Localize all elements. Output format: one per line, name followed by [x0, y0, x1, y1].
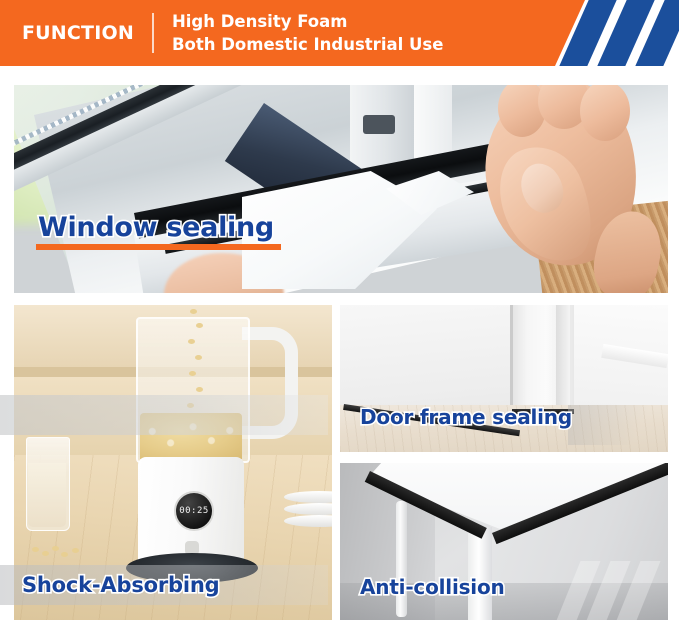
scattered-soybeans — [32, 545, 86, 561]
panel-door-frame-sealing — [340, 305, 668, 452]
table-leg — [396, 501, 407, 617]
blender-timer-value: 00:25 — [179, 506, 209, 516]
caption-window-sealing: Window sealing — [38, 212, 274, 243]
panel-window-sealing — [14, 85, 668, 293]
header-divider — [152, 13, 154, 53]
soybean — [61, 552, 68, 557]
stacked-plates — [284, 491, 332, 545]
plate — [284, 503, 332, 515]
soybean — [196, 323, 203, 328]
header-headline-block: High Density Foam Both Domestic Industri… — [172, 10, 444, 57]
soybean — [72, 548, 79, 553]
caption-anti-collision: Anti-collision — [360, 575, 505, 599]
soybean — [52, 546, 59, 551]
caption-shock-absorbing: Shock-Absorbing — [22, 573, 219, 597]
blender-display: 00:25 — [174, 491, 214, 531]
door-light-shadow — [568, 405, 668, 445]
milk-glass-content — [28, 463, 66, 527]
door-jamb-secondary — [556, 305, 570, 407]
table-leg — [468, 527, 492, 620]
window-latch-handle — [363, 115, 395, 134]
plate — [284, 515, 332, 527]
soybean — [32, 547, 39, 552]
plate — [284, 491, 332, 503]
caption-door-frame-sealing: Door frame sealing — [360, 405, 572, 429]
header-headline-line-1: High Density Foam — [172, 10, 444, 33]
soybean — [189, 371, 196, 376]
header-chevron-stripes — [560, 0, 679, 66]
soybean — [190, 309, 197, 314]
soybean — [188, 339, 195, 344]
window-peeling-hand — [446, 85, 661, 293]
header-content: FUNCTION High Density Foam Both Domestic… — [0, 0, 585, 66]
soybean — [196, 387, 203, 392]
header-headline-line-2: Both Domestic Industrial Use — [172, 33, 444, 56]
soybean — [195, 355, 202, 360]
door-jamb-edge — [510, 305, 513, 405]
window-caption-underline — [36, 244, 281, 250]
function-header-banner: FUNCTION High Density Foam Both Domestic… — [0, 0, 679, 68]
header-function-label: FUNCTION — [22, 22, 134, 44]
door-caption-band — [0, 395, 328, 435]
soybean — [42, 551, 49, 556]
